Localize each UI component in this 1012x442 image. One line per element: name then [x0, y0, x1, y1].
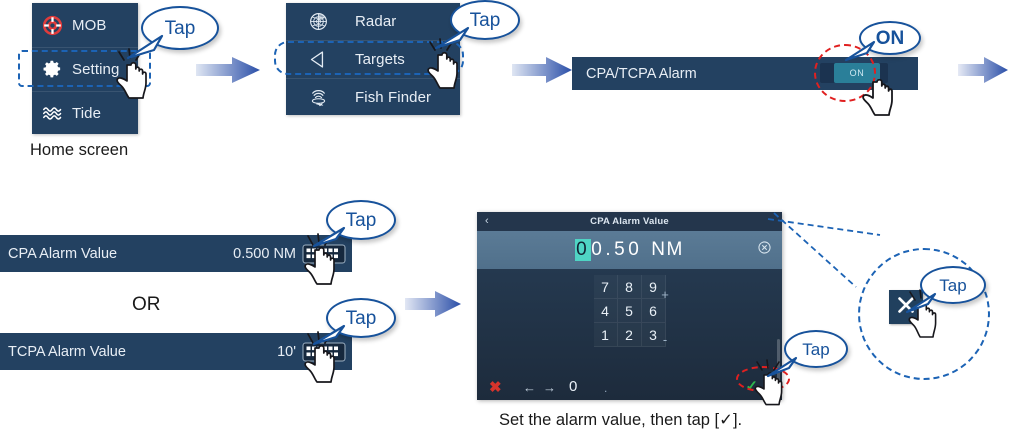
callout-tail-7	[903, 292, 937, 316]
sidebar-item-label: Tide	[72, 105, 101, 122]
keypad-grid[interactable]: 7 8 9 4 5 6 1 2 3	[594, 275, 666, 347]
dialog-title-bar: CPA Alarm Value	[477, 212, 782, 231]
cpa-alarm-value: 0.500 NM	[233, 246, 302, 262]
key-dot[interactable]: .	[604, 382, 607, 394]
home-screen-menu: MOB Setting	[32, 3, 138, 134]
flow-arrow-2	[512, 57, 574, 83]
callout-tail-3	[842, 40, 876, 64]
key-5[interactable]: 5	[618, 299, 642, 323]
key-7[interactable]: 7	[594, 275, 618, 299]
flow-arrow-3	[958, 57, 1010, 83]
arrow-right-icon[interactable]: →	[543, 380, 556, 395]
callout-label: Tap	[470, 11, 501, 30]
green-check-icon[interactable]: ✓	[745, 378, 758, 395]
callout-label: Tap	[165, 19, 196, 38]
toggle-label: ON	[850, 68, 865, 78]
callout-tail-2	[432, 26, 472, 52]
callout-tail-4	[310, 226, 346, 250]
callout-label: ON	[876, 29, 905, 48]
keypad-caption: Set the alarm value, then tap [✓].	[499, 410, 742, 430]
home-screen-caption: Home screen	[30, 141, 128, 160]
callout-label: Tap	[346, 211, 377, 230]
chevron-left-icon[interactable]: ‹	[485, 216, 489, 227]
toggle-on-state[interactable]: ON	[834, 63, 880, 83]
callout-label: Tap	[346, 309, 377, 328]
flow-arrow-4	[405, 291, 463, 317]
value-digit-4: 0	[628, 239, 642, 261]
sidebar-item-tide[interactable]: Tide	[32, 92, 138, 134]
value-unit: NM	[651, 239, 684, 261]
keypad-bottom-row: ✖ ← → 0 . ✓	[477, 376, 782, 398]
menu-item-fish-finder[interactable]: Fish Finder	[286, 79, 460, 115]
key-4[interactable]: 4	[594, 299, 618, 323]
wave-icon	[42, 103, 63, 124]
callout-tail-5	[310, 324, 346, 348]
gear-icon	[42, 59, 63, 80]
or-label: OR	[132, 294, 161, 316]
lifebuoy-icon	[42, 15, 63, 36]
value-digit-2: .	[605, 239, 614, 261]
key-0[interactable]: 0	[569, 378, 577, 395]
cpa-alarm-value-row[interactable]: CPA Alarm Value 0.500 NM	[0, 235, 352, 272]
callout-label: Tap	[802, 341, 829, 358]
sidebar-item-setting[interactable]: Setting	[32, 48, 138, 91]
key-8[interactable]: 8	[618, 275, 642, 299]
sidebar-item-label: MOB	[72, 17, 106, 34]
target-triangle-icon	[308, 49, 329, 70]
cpa-tcpa-alarm-label: CPA/TCPA Alarm	[586, 66, 697, 82]
value-digit-3: 5	[614, 239, 628, 261]
key-1[interactable]: 1	[594, 323, 618, 347]
menu-item-label: Fish Finder	[355, 89, 431, 106]
key-minus[interactable]: -	[656, 332, 674, 347]
red-x-icon[interactable]: ✖	[489, 380, 502, 395]
dialog-title: CPA Alarm Value	[590, 216, 669, 227]
menu-item-label: Radar	[355, 13, 396, 30]
value-digit-1: 0	[591, 239, 605, 261]
sidebar-item-label: Setting	[72, 61, 119, 78]
value-display: 00.50 NM	[575, 239, 684, 261]
numeric-keypad-dialog[interactable]: CPA Alarm Value ‹ 00.50 NM 7 8 9 4 5 6	[477, 212, 782, 400]
procedure-diagram: MOB Setting	[0, 0, 1012, 442]
tcpa-alarm-value-row[interactable]: TCPA Alarm Value 10'	[0, 333, 352, 370]
cpa-alarm-value-label: CPA Alarm Value	[0, 246, 117, 262]
sidebar-item-mob[interactable]: MOB	[32, 3, 138, 47]
tcpa-alarm-value: 10'	[277, 344, 302, 360]
fish-finder-icon	[308, 87, 329, 108]
callout-tail-1	[124, 34, 164, 62]
radar-icon	[308, 11, 329, 32]
key-plus[interactable]: +	[656, 287, 674, 302]
keypad-body: 7 8 9 4 5 6 1 2 3 + - ✖ ← → 0 . ✓	[477, 269, 782, 400]
value-digit-0: 0	[575, 239, 591, 261]
flow-arrow-1	[196, 57, 262, 83]
menu-item-label: Targets	[355, 51, 405, 68]
callout-tail-6	[764, 356, 798, 380]
tcpa-alarm-value-label: TCPA Alarm Value	[0, 344, 126, 360]
arrow-left-icon[interactable]: ←	[523, 380, 536, 395]
targets-menu: Radar Targets	[286, 3, 460, 115]
key-6[interactable]: 6	[642, 299, 666, 323]
callout-label: Tap	[939, 277, 966, 294]
key-2[interactable]: 2	[618, 323, 642, 347]
value-display-bar: 00.50 NM	[477, 231, 782, 269]
